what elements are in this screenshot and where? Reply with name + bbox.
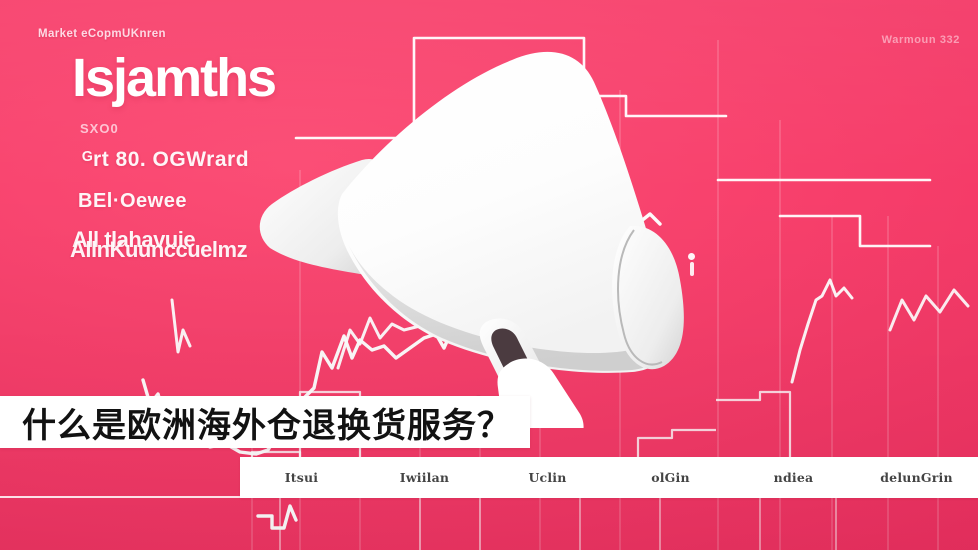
title-banner-text: 什么是欧洲海外仓退换货服务？: [22, 398, 512, 447]
sub-line-4: AllnKuunccuelmz: [70, 237, 360, 263]
axis-label-bar: Itsui Iwiilan Uclin olGin ndiea delunGri…: [240, 457, 978, 498]
sub-line-2: BEl·Oewee: [78, 190, 360, 213]
page-title: Isjamths: [72, 52, 360, 105]
banner-canvas: Market eCopmUKnren Isjamths SXO0 ᴳrt 80.…: [0, 0, 978, 550]
sub-line-1: ᴳrt 80. OGWrard: [82, 148, 360, 172]
sub-number: SXO0: [80, 121, 360, 136]
title-banner: 什么是欧洲海外仓退换货服务？: [0, 396, 530, 448]
axis-tick-2: Uclin: [486, 470, 609, 485]
marker-pin-icon: [688, 253, 695, 260]
axis-tick-4: ndiea: [732, 470, 855, 485]
corner-tag: Warmoun 332: [882, 34, 960, 46]
axis-tick-3: olGin: [609, 470, 732, 485]
eyebrow-text: Market eCopmUKnren: [38, 28, 360, 40]
axis-tick-1: Iwiilan: [363, 470, 486, 485]
headline-block: Market eCopmUKnren Isjamths SXO0 ᴳrt 80.…: [30, 28, 360, 263]
axis-tick-5: delunGrin: [855, 470, 978, 485]
axis-tick-0: Itsui: [240, 470, 363, 485]
marker-pin-stem: [690, 262, 694, 276]
